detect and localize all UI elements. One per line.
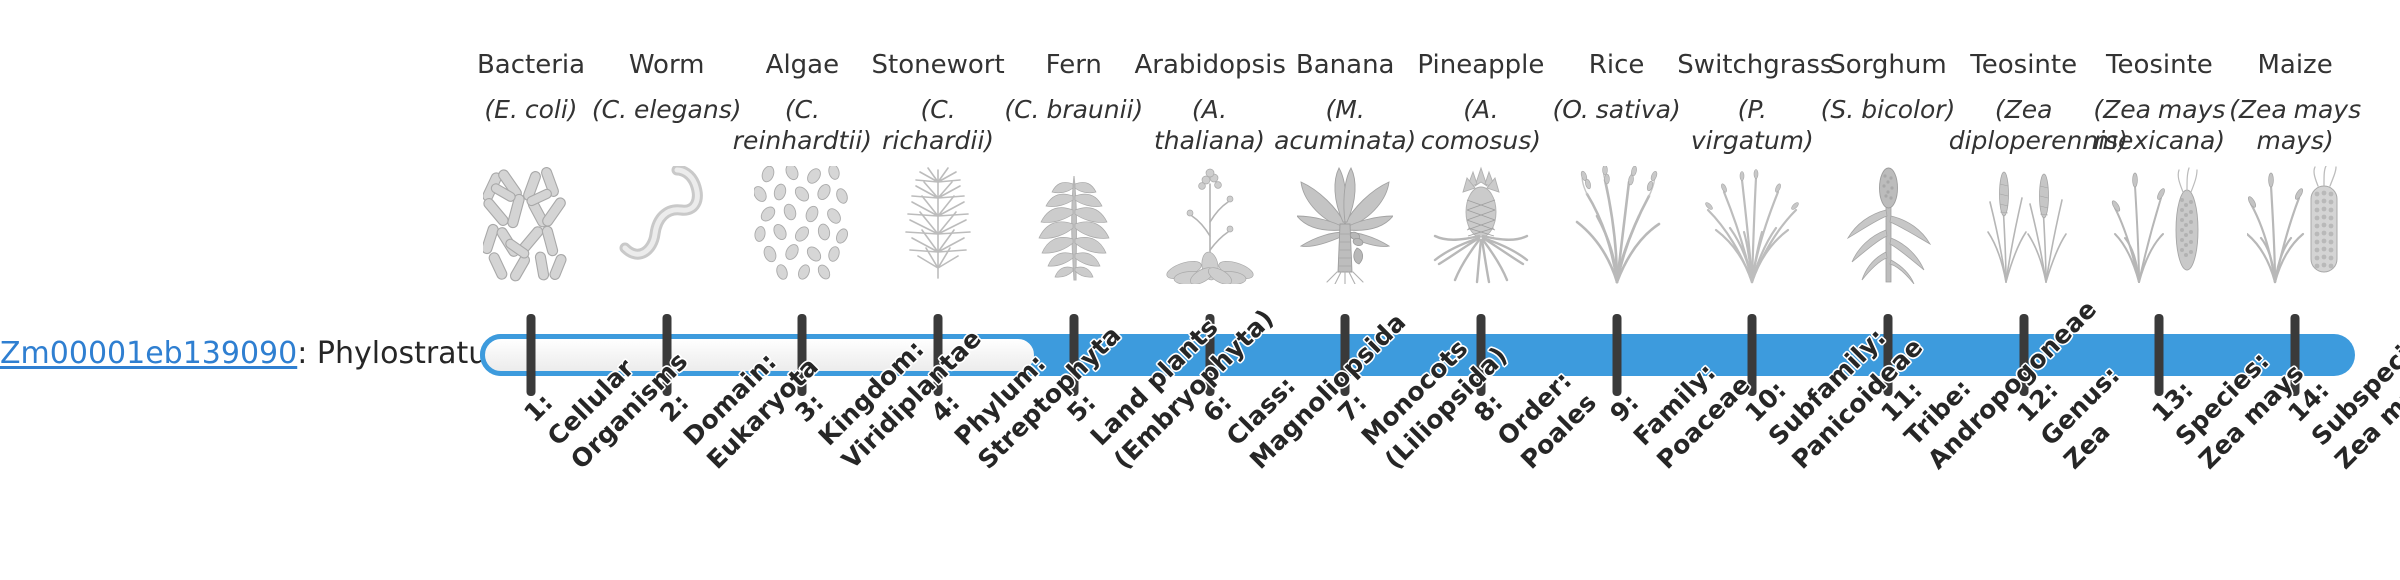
species-illustration-13 [2084, 166, 2234, 284]
species-latin-name: (C. elegans) [592, 94, 742, 125]
gene-label-separator: : [297, 336, 317, 371]
species-illustration-5 [999, 166, 1149, 284]
species-illustration-1 [456, 166, 606, 284]
species-latin-name: (E. coli) [456, 94, 606, 125]
species-column-14: Maize(Zea mays mays) [2220, 48, 2370, 156]
fern-icon [1026, 166, 1122, 284]
species-column-2: Worm(C. elegans) [592, 48, 742, 125]
species-common-name: Fern [999, 48, 1149, 82]
species-column-5: Fern(C. braunii) [999, 48, 1149, 125]
worm-icon [619, 166, 715, 284]
rice-icon [1569, 166, 1665, 284]
species-illustration-3 [727, 166, 877, 284]
species-latin-name: (C. reinhardtii) [727, 94, 877, 156]
species-column-6: Arabidopsis(A. thaliana) [1135, 48, 1285, 156]
species-common-name: Teosinte [2084, 48, 2234, 82]
species-latin-name: (A. thaliana) [1135, 94, 1285, 156]
species-latin-name: (P. virgatum) [1677, 94, 1827, 156]
banana-icon [1297, 166, 1393, 284]
teosinte-diplo-icon [1976, 166, 2072, 284]
species-illustration-6 [1135, 166, 1285, 284]
species-illustration-10 [1677, 166, 1827, 284]
species-illustration-8 [1406, 166, 1556, 284]
species-latin-name: (C. richardii) [863, 94, 1013, 156]
species-column-3: Algae(C. reinhardtii) [727, 48, 877, 156]
species-latin-name: (O. sativa) [1542, 94, 1692, 125]
species-common-name: Banana [1270, 48, 1420, 82]
species-common-name: Arabidopsis [1135, 48, 1285, 82]
species-common-name: Rice [1542, 48, 1692, 82]
species-column-12: Teosinte(Zea diploperennis) [1949, 48, 2099, 156]
maize-icon [2247, 166, 2343, 284]
species-common-name: Pineapple [1406, 48, 1556, 82]
sorghum-icon [1840, 166, 1936, 284]
species-common-name: Teosinte [1949, 48, 2099, 82]
species-latin-name: (S. bicolor) [1813, 94, 1963, 125]
stonewort-icon [890, 166, 986, 284]
species-illustration-11 [1813, 166, 1963, 284]
species-latin-name: (A. comosus) [1406, 94, 1556, 156]
species-illustration-7 [1270, 166, 1420, 284]
species-latin-name: (Zea mays mays) [2220, 94, 2370, 156]
species-illustration-14 [2220, 166, 2370, 284]
species-column-11: Sorghum(S. bicolor) [1813, 48, 1963, 125]
species-column-13: Teosinte(Zea mays mexicana) [2084, 48, 2234, 156]
species-column-9: Rice(O. sativa) [1542, 48, 1692, 125]
species-illustration-12 [1949, 166, 2099, 284]
species-latin-name: (M. acuminata) [1270, 94, 1420, 156]
species-column-8: Pineapple(A. comosus) [1406, 48, 1556, 156]
species-illustration-2 [592, 166, 742, 284]
phylostratum-figure: Zm00001eb139090: Phylostratum 5 Bacteria… [0, 0, 2400, 580]
algae-icon [754, 166, 850, 284]
species-latin-name: (Zea mays mexicana) [2084, 94, 2234, 156]
arabidopsis-icon [1162, 166, 1258, 284]
species-common-name: Sorghum [1813, 48, 1963, 82]
species-illustration-4 [863, 166, 1013, 284]
species-common-name: Stonewort [863, 48, 1013, 82]
species-latin-name: (C. braunii) [999, 94, 1149, 125]
species-column-10: Switchgrass(P. virgatum) [1677, 48, 1827, 156]
species-column-7: Banana(M. acuminata) [1270, 48, 1420, 156]
species-common-name: Worm [592, 48, 742, 82]
phylostratum-tick-1[interactable] [527, 314, 536, 396]
species-column-4: Stonewort(C. richardii) [863, 48, 1013, 156]
species-common-name: Algae [727, 48, 877, 82]
pineapple-icon [1433, 166, 1529, 284]
species-latin-name: (Zea diploperennis) [1949, 94, 2099, 156]
teosinte-mex-icon [2111, 166, 2207, 284]
gene-id-link[interactable]: Zm00001eb139090 [0, 336, 297, 371]
species-illustration-9 [1542, 166, 1692, 284]
species-column-1: Bacteria(E. coli) [456, 48, 606, 125]
species-common-name: Switchgrass [1677, 48, 1827, 82]
switchgrass-icon [1704, 166, 1800, 284]
bacteria-icon [483, 166, 579, 284]
gene-phylostratum-label: Zm00001eb139090: Phylostratum 5 [0, 334, 470, 374]
species-common-name: Maize [2220, 48, 2370, 82]
species-common-name: Bacteria [456, 48, 606, 82]
